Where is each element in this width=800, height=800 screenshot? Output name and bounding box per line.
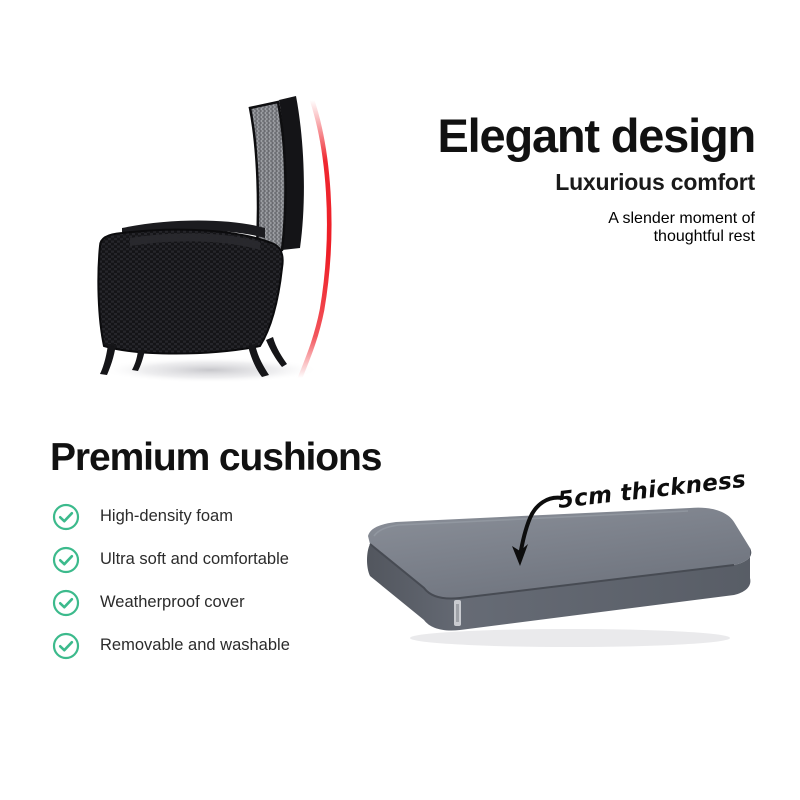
armchair-illustration <box>60 78 360 403</box>
cushion-shadow <box>410 629 730 647</box>
page-title: Elegant design <box>355 112 755 160</box>
feature-label: Weatherproof cover <box>100 594 245 611</box>
red-accent-curve <box>300 100 329 378</box>
product-feature-graphic: Elegant design Luxurious comfort A slend… <box>0 0 800 800</box>
tagline-line-2: thoughtful rest <box>355 228 755 246</box>
feature-label: Removable and washable <box>100 637 290 654</box>
elegant-design-section: Elegant design Luxurious comfort A slend… <box>0 0 800 410</box>
headline-copy-block: Elegant design Luxurious comfort A slend… <box>355 112 755 262</box>
check-circle-icon <box>52 546 80 574</box>
feature-label: Ultra soft and comfortable <box>100 551 289 568</box>
tagline-line-1: A slender moment of <box>355 210 755 228</box>
check-circle-icon <box>52 503 80 531</box>
thickness-annotation: 5cm thickness <box>330 450 790 630</box>
check-circle-icon <box>52 589 80 617</box>
feature-label: High-density foam <box>100 508 233 525</box>
check-circle-icon <box>52 632 80 660</box>
premium-cushions-section: Premium cushions High-density foam <box>0 410 800 800</box>
subheading: Luxurious comfort <box>355 170 755 195</box>
wicker-armchair-image <box>60 78 360 403</box>
